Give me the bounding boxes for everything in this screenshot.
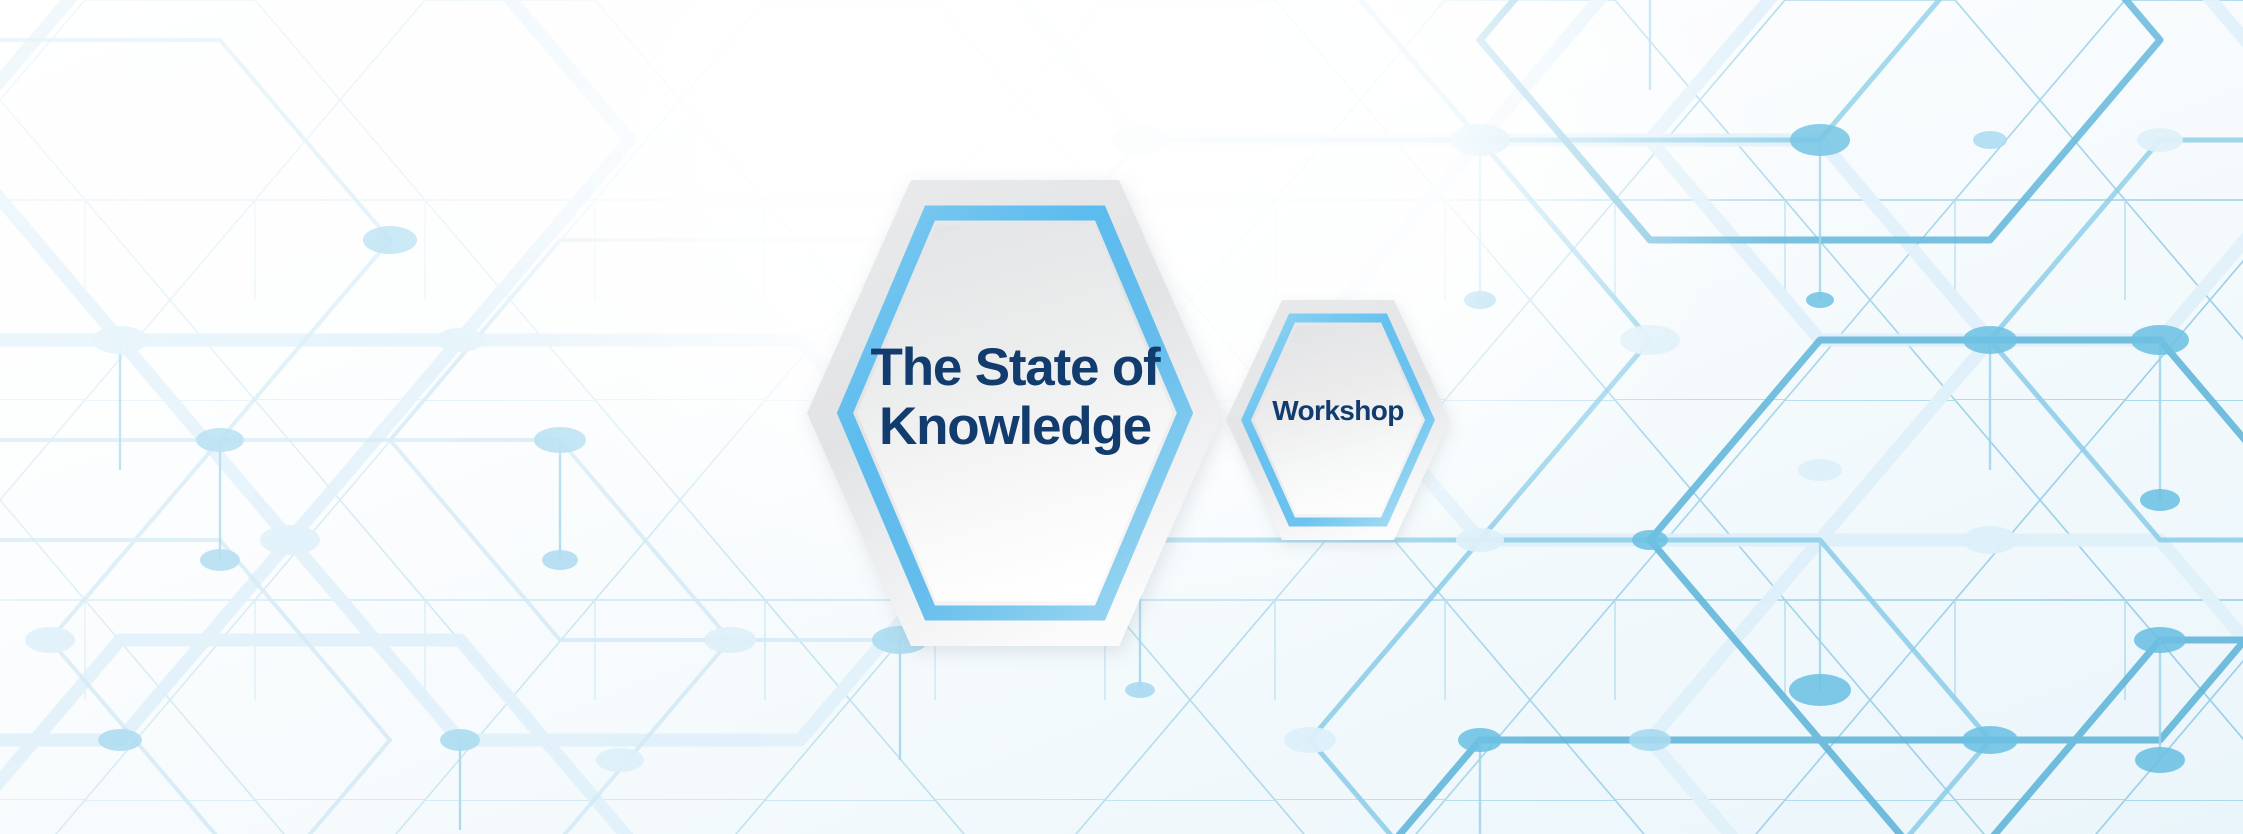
workshop-hexagon-title: Workshop — [1238, 395, 1438, 426]
hexagon-badge-group: The State of Knowledge — [0, 0, 2243, 834]
main-hexagon-title: The State of Knowledge — [840, 338, 1190, 457]
banner-root: The State of Knowledge — [0, 0, 2243, 834]
